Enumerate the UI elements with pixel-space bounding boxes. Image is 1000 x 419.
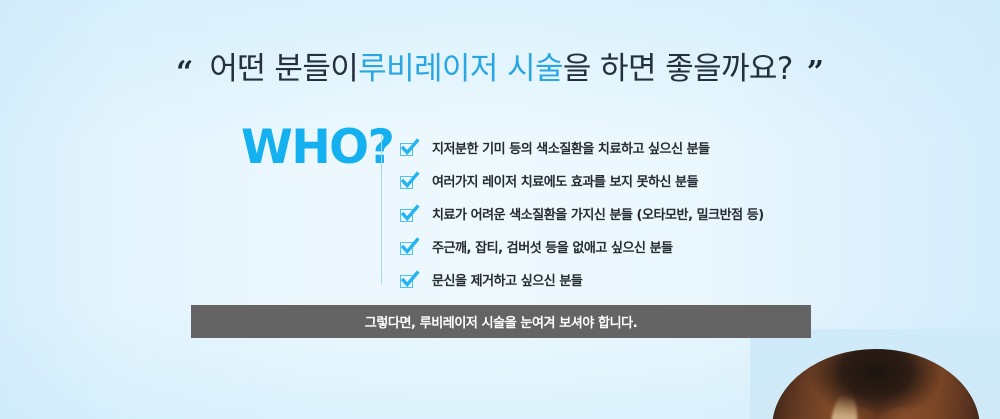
quote-close-icon: ” (807, 58, 824, 88)
quote-open-icon: “ (176, 58, 193, 88)
check-box-icon (400, 240, 417, 257)
list-item: 여러가지 레이저 치료에도 효과를 보지 못하신 분들 (400, 166, 764, 199)
list-item-label: 문신을 제거하고 싶으신 분들 (432, 275, 582, 288)
list-item-label: 지저분한 기미 등의 색소질환을 치료하고 싶으신 분들 (432, 143, 710, 156)
who-label: WHO? (241, 124, 393, 171)
headline: “어떤 분들이 루비레이저 시술을 하면 좋을까요?” (0, 52, 1000, 86)
callout-banner: 그렇다면, 루비레이저 시술을 눈여겨 보셔야 합니다. (191, 305, 811, 338)
callout-banner-text: 그렇다면, 루비레이저 시술을 눈여겨 보셔야 합니다. (365, 312, 637, 331)
model-hair-strand-right (870, 407, 966, 419)
list-item-label: 치료가 어려운 색소질환을 가지신 분들 (오타모반, 밀크반점 등) (432, 209, 764, 222)
check-box-icon (400, 141, 417, 158)
check-box-icon (400, 273, 417, 290)
list-item: 지저분한 기미 등의 색소질환을 치료하고 싶으신 분들 (400, 133, 764, 166)
vertical-divider (381, 134, 382, 284)
check-box-icon (400, 174, 417, 191)
promo-banner-page: “어떤 분들이 루비레이저 시술을 하면 좋을까요?” WHO? 지저분한 기미… (0, 0, 1000, 419)
list-item: 치료가 어려운 색소질환을 가지신 분들 (오타모반, 밀크반점 등) (400, 199, 764, 232)
check-box-icon (400, 207, 417, 224)
list-item-label: 여러가지 레이저 치료에도 효과를 보지 못하신 분들 (432, 176, 698, 189)
headline-text-after: 을 하면 좋을까요? (563, 52, 793, 86)
list-item: 문신을 제거하고 싶으신 분들 (400, 265, 764, 298)
model-photo (750, 329, 1000, 419)
model-hair-part (826, 394, 860, 419)
headline-text-highlight: 루비레이저 시술 (358, 52, 563, 86)
headline-text-before: 어떤 분들이 (209, 52, 358, 86)
list-item-label: 주근깨, 잡티, 검버섯 등을 없애고 싶으신 분들 (432, 242, 673, 255)
checklist: 지저분한 기미 등의 색소질환을 치료하고 싶으신 분들 여러가지 레이저 치료… (400, 133, 764, 298)
list-item: 주근깨, 잡티, 검버섯 등을 없애고 싶으신 분들 (400, 232, 764, 265)
